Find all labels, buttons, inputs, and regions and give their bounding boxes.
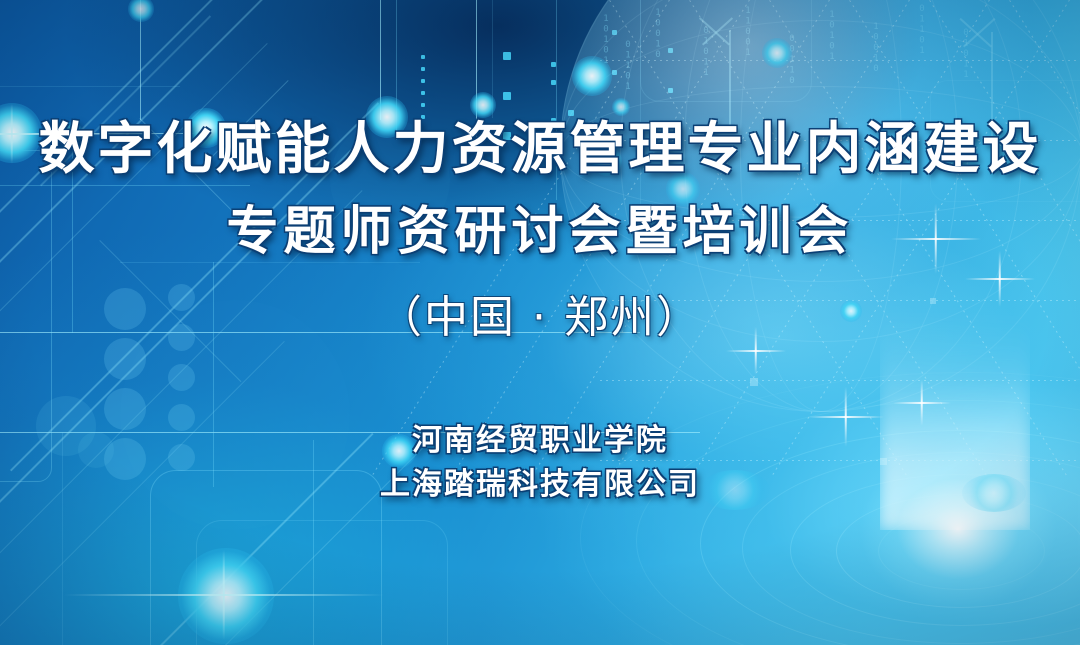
- banner-text-block: 数字化赋能人力资源管理专业内涵建设 专题师资研讨会暨培训会 （中国 · 郑州） …: [0, 0, 1080, 645]
- organizer-1: 河南经贸职业学院: [412, 426, 668, 456]
- organizer-2: 上海踏瑞科技有限公司: [380, 470, 700, 500]
- location-label: （中国 · 郑州）: [378, 296, 702, 340]
- title-line-1: 数字化赋能人力资源管理专业内涵建设: [39, 122, 1042, 178]
- title-line-2: 专题师资研讨会暨培训会: [226, 206, 853, 258]
- conference-banner: 10101 01101 10010 01011 11001 00110 1010…: [0, 0, 1080, 645]
